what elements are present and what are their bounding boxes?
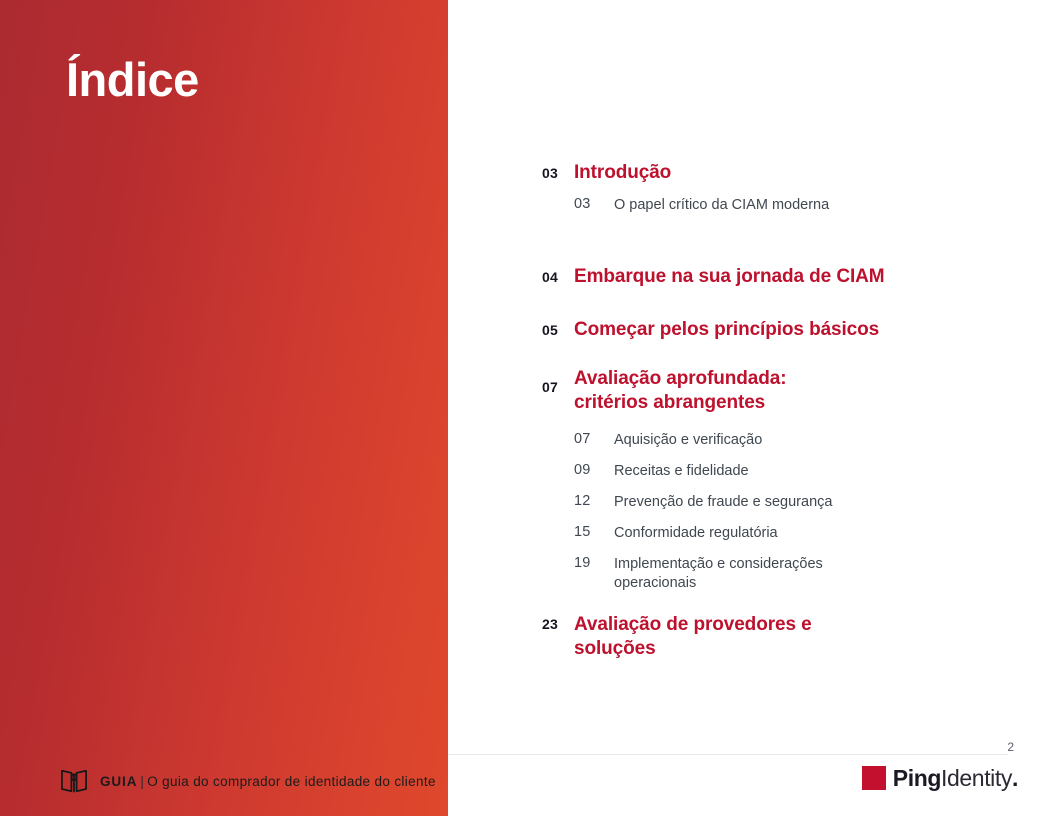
table-of-contents: 03 Introdução 03 O papel crítico da CIAM…	[498, 160, 998, 662]
toc-group: 07 Avaliação aprofundada: critérios abra…	[498, 367, 998, 593]
toc-entry-label: Avaliação aprofundada: critérios abrange…	[574, 367, 834, 416]
toc-entry[interactable]: 05 Começar pelos princípios básicos	[498, 317, 998, 343]
toc-subentry[interactable]: 12 Prevenção de fraude e segurança	[574, 493, 998, 515]
toc-subentry[interactable]: 03 O papel crítico da CIAM moderna	[574, 196, 998, 218]
ping-square-mark-icon	[862, 766, 886, 790]
toc-subentry-number: 07	[574, 431, 614, 453]
toc-entry-number: 05	[498, 322, 558, 338]
toc-subentry[interactable]: 07 Aquisição e verificação	[574, 431, 998, 453]
toc-entry[interactable]: 23 Avaliação de provedores e soluções	[498, 613, 998, 662]
toc-subentry-label: Conformidade regulatória	[614, 524, 778, 546]
toc-entry-label: Avaliação de provedores e soluções	[574, 613, 814, 662]
toc-subentry-label: Implementação e considerações operaciona…	[614, 555, 866, 593]
toc-subentry[interactable]: 19 Implementação e considerações operaci…	[574, 555, 998, 593]
toc-subentry-number: 12	[574, 493, 614, 515]
toc-entry-label: Começar pelos princípios básicos	[574, 318, 879, 342]
footer-separator: |	[137, 774, 147, 789]
toc-entry[interactable]: 04 Embarque na sua jornada de CIAM	[498, 264, 998, 290]
footer-tagline: GUIA|O guia do comprador de identidade d…	[100, 774, 436, 789]
ping-identity-wordmark: PingIdentity.	[893, 767, 1018, 790]
toc-group: 03 Introdução 03 O papel crítico da CIAM…	[498, 160, 998, 218]
toc-entry-number: 04	[498, 269, 558, 285]
toc-subentry[interactable]: 09 Receitas e fidelidade	[574, 462, 998, 484]
page-number: 2	[1007, 740, 1014, 754]
toc-subentry-number: 19	[574, 555, 614, 593]
toc-entry-label: Introdução	[574, 161, 671, 185]
toc-subentry-label: O papel crítico da CIAM moderna	[614, 196, 829, 218]
page-footer: 2 GUIA|O guia do comprador de identidade…	[0, 754, 1056, 816]
toc-group: 05 Começar pelos princípios básicos	[498, 317, 998, 343]
toc-group: 23 Avaliação de provedores e soluções	[498, 613, 998, 662]
toc-entry-number: 03	[498, 165, 558, 181]
logo-word-dot: .	[1012, 765, 1018, 791]
toc-entry[interactable]: 07 Avaliação aprofundada: critérios abra…	[498, 367, 998, 416]
toc-entry-number: 07	[498, 379, 558, 395]
page-title: Índice	[66, 54, 199, 106]
open-book-icon	[60, 768, 88, 794]
toc-subentry-number: 09	[574, 462, 614, 484]
toc-subentry[interactable]: 15 Conformidade regulatória	[574, 524, 998, 546]
toc-entry-label: Embarque na sua jornada de CIAM	[574, 265, 884, 289]
toc-entry-number: 23	[498, 616, 558, 632]
toc-subentry-label: Aquisição e verificação	[614, 431, 762, 453]
footer-tagline-text: O guia do comprador de identidade do cli…	[147, 774, 436, 789]
toc-subentry-label: Receitas e fidelidade	[614, 462, 749, 484]
left-red-panel: Índice	[0, 0, 448, 816]
ping-identity-logo: PingIdentity.	[862, 766, 1018, 790]
footer-kicker: GUIA	[100, 774, 137, 789]
toc-subentry-number: 03	[574, 196, 614, 218]
footer-divider	[448, 754, 1008, 755]
toc-subentry-label: Prevenção de fraude e segurança	[614, 493, 832, 515]
logo-word-ping: Ping	[893, 765, 941, 791]
toc-page: Índice 03 Introdução 03 O papel crítico …	[0, 0, 1056, 816]
toc-subentry-number: 15	[574, 524, 614, 546]
toc-group: 04 Embarque na sua jornada de CIAM	[498, 264, 998, 290]
toc-entry[interactable]: 03 Introdução	[498, 160, 998, 186]
logo-word-identity: Identity	[941, 765, 1012, 791]
footer-brand-line: GUIA|O guia do comprador de identidade d…	[60, 768, 436, 794]
